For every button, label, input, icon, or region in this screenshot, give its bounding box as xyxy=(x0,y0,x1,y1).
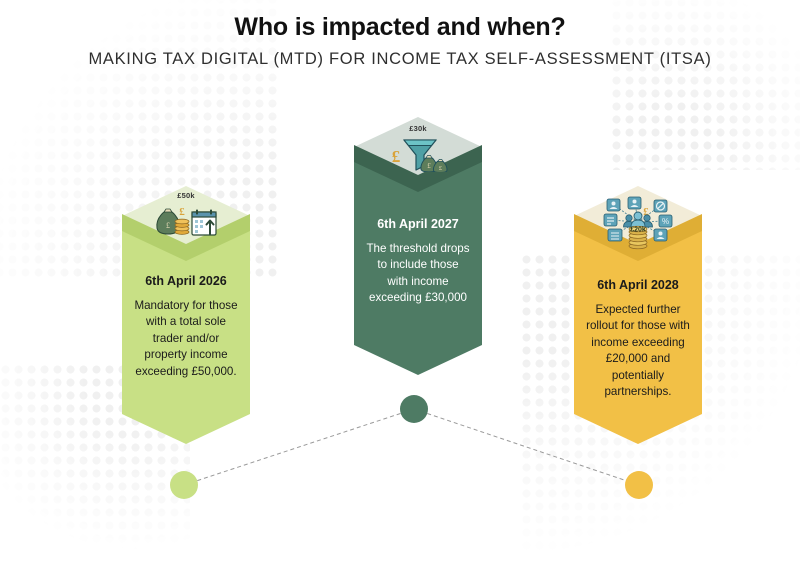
milestone-column-2026[interactable]: 6th April 2026 Mandatory for those with … xyxy=(122,186,250,444)
milestone-column-2028[interactable]: 6th April 2028 Expected further rollout … xyxy=(574,186,702,444)
column-text-2027: 6th April 2027 The threshold drops to in… xyxy=(354,217,482,307)
page-title: Who is impacted and when? xyxy=(0,14,800,42)
column-date-2026: 6th April 2026 xyxy=(134,274,238,289)
column-description-2026: Mandatory for those with a total sole tr… xyxy=(134,298,238,380)
column-text-2028: 6th April 2028 Expected further rollout … xyxy=(574,278,702,401)
column-description-2027: The threshold drops to include those wit… xyxy=(366,241,470,307)
milestone-column-2027[interactable]: 6th April 2027 The threshold drops to in… xyxy=(354,117,482,375)
column-description-2028: Expected further rollout for those with … xyxy=(586,302,690,401)
page-subtitle: MAKING TAX DIGITAL (MTD) FOR INCOME TAX … xyxy=(0,49,800,71)
column-text-2026: 6th April 2026 Mandatory for those with … xyxy=(122,274,250,380)
column-date-2027: 6th April 2027 xyxy=(366,217,470,232)
column-date-2028: 6th April 2028 xyxy=(586,278,690,293)
header: Who is impacted and when? MAKING TAX DIG… xyxy=(0,14,800,70)
